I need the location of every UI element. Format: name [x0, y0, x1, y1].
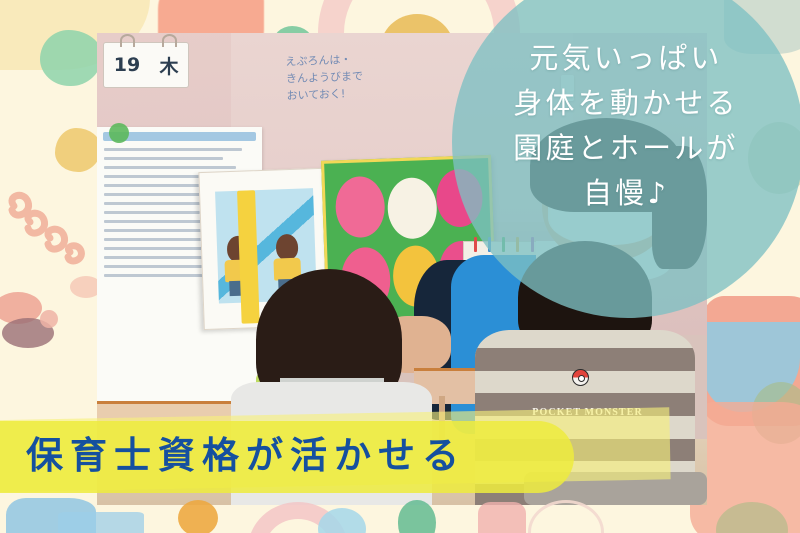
date-card-day: 19 [114, 54, 140, 76]
book-page-circle [334, 176, 385, 239]
notice-text-line [104, 148, 242, 151]
banner-headline-text: 保育士資格が活かせる [26, 428, 566, 484]
notice-text-line [104, 193, 213, 196]
banner-canvas: えぷろんは・ きんようびまで おいておく! 19 木 [0, 0, 800, 533]
notice-text-line [104, 175, 203, 178]
date-card: 19 木 [103, 42, 189, 88]
shirt-stripe [475, 348, 695, 371]
book-page-circle [387, 177, 438, 240]
date-card-hook-left [120, 34, 135, 47]
date-card-weekday: 木 [159, 52, 178, 79]
notice-text-line [104, 157, 223, 160]
date-card-hook-right [162, 34, 177, 47]
pen [474, 237, 477, 252]
whiteboard-handwriting: えぷろんは・ きんようびまで おいておく! [285, 51, 364, 105]
headline-text: 元気いっぱい 身体を動かせる 園庭とホールが 自慢♪ [452, 36, 800, 216]
notice-text-line [104, 247, 206, 250]
pokeball-icon [572, 369, 589, 386]
notice-text-line [104, 211, 200, 214]
notice-green-sticker [109, 123, 129, 143]
notice-text-line [104, 265, 216, 268]
